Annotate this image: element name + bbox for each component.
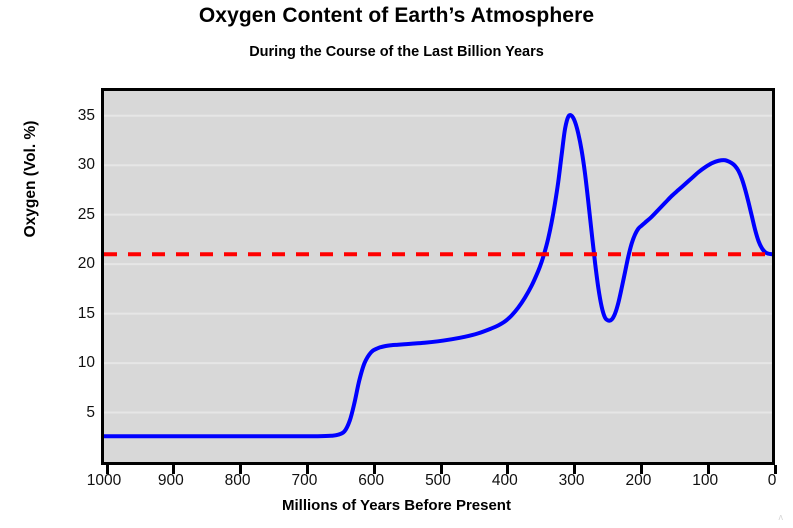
y-tick-label: 20	[55, 255, 95, 273]
x-tick-label: 600	[358, 472, 384, 490]
data-line	[104, 115, 772, 436]
x-tick-label: 800	[225, 472, 251, 490]
y-tick-label: 30	[55, 156, 95, 174]
x-tick-label: 1000	[87, 472, 121, 490]
x-tick-label: 100	[692, 472, 718, 490]
y-axis-title: Oxygen (Vol. %)	[22, 69, 40, 289]
x-tick-label: 400	[492, 472, 518, 490]
chart-subtitle: During the Course of the Last Billion Ye…	[0, 44, 793, 60]
x-tick-label: 900	[158, 472, 184, 490]
gridlines	[104, 116, 772, 413]
corner-artifact: ʌ	[779, 512, 784, 522]
y-axis-ticks: 5101520253035	[55, 88, 95, 465]
y-tick-label: 15	[55, 305, 95, 323]
x-tick-label: 200	[625, 472, 651, 490]
series-group	[104, 115, 772, 436]
plot-svg	[104, 91, 772, 462]
plot-inner	[104, 91, 772, 462]
y-tick-label: 35	[55, 107, 95, 125]
x-axis-title: Millions of Years Before Present	[0, 497, 793, 514]
x-tick-label: 300	[559, 472, 585, 490]
x-tick-label: 0	[768, 472, 777, 490]
y-tick-label: 25	[55, 206, 95, 224]
y-tick-label: 10	[55, 354, 95, 372]
chart-title: Oxygen Content of Earth’s Atmosphere	[0, 4, 793, 28]
y-tick-label: 5	[55, 404, 95, 422]
x-axis-ticks: 10009008007006005004003002001000	[101, 472, 775, 496]
x-tick-label: 700	[291, 472, 317, 490]
chart-figure: Oxygen Content of Earth’s Atmosphere Dur…	[0, 0, 793, 528]
x-tick-label: 500	[425, 472, 451, 490]
plot-area	[101, 88, 775, 465]
